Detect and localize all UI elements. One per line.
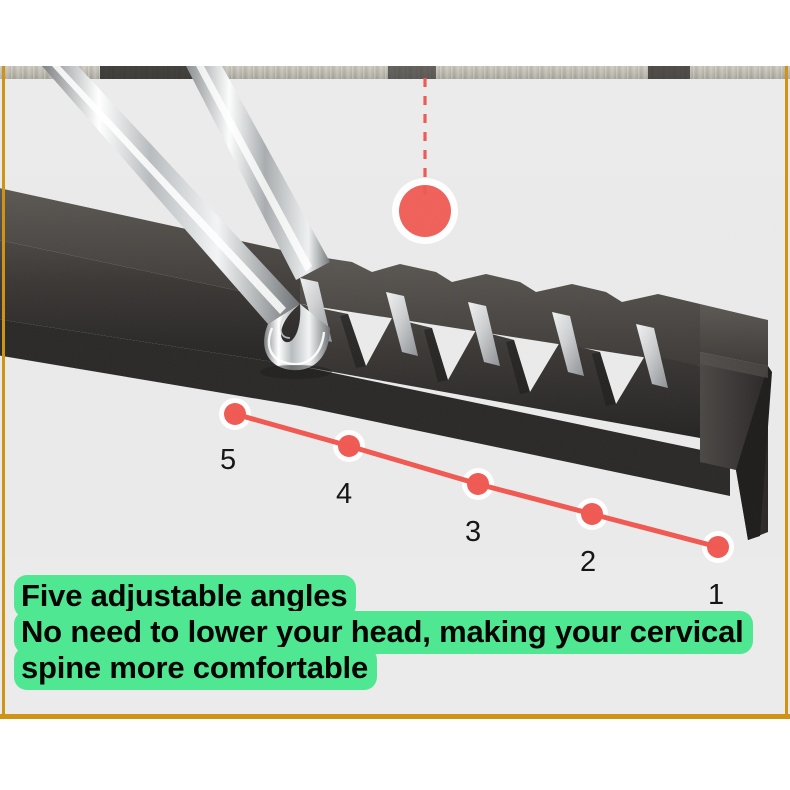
frame-border-right <box>785 66 788 717</box>
product-feature-image: 5 4 3 2 1 Five adjustable angles No need… <box>0 0 790 790</box>
caption-line-3: spine more comfortable <box>14 652 754 683</box>
product-photo: 5 4 3 2 1 Five adjustable angles No need… <box>0 66 790 717</box>
angle-connector-line <box>235 414 718 547</box>
caption-line-2: No need to lower your head, making your … <box>14 616 754 647</box>
frame-border-left <box>2 66 5 717</box>
caption-block: Five adjustable angles No need to lower … <box>14 580 754 688</box>
frame-border-bottom <box>0 714 790 719</box>
caption-line-1: Five adjustable angles <box>14 580 754 611</box>
